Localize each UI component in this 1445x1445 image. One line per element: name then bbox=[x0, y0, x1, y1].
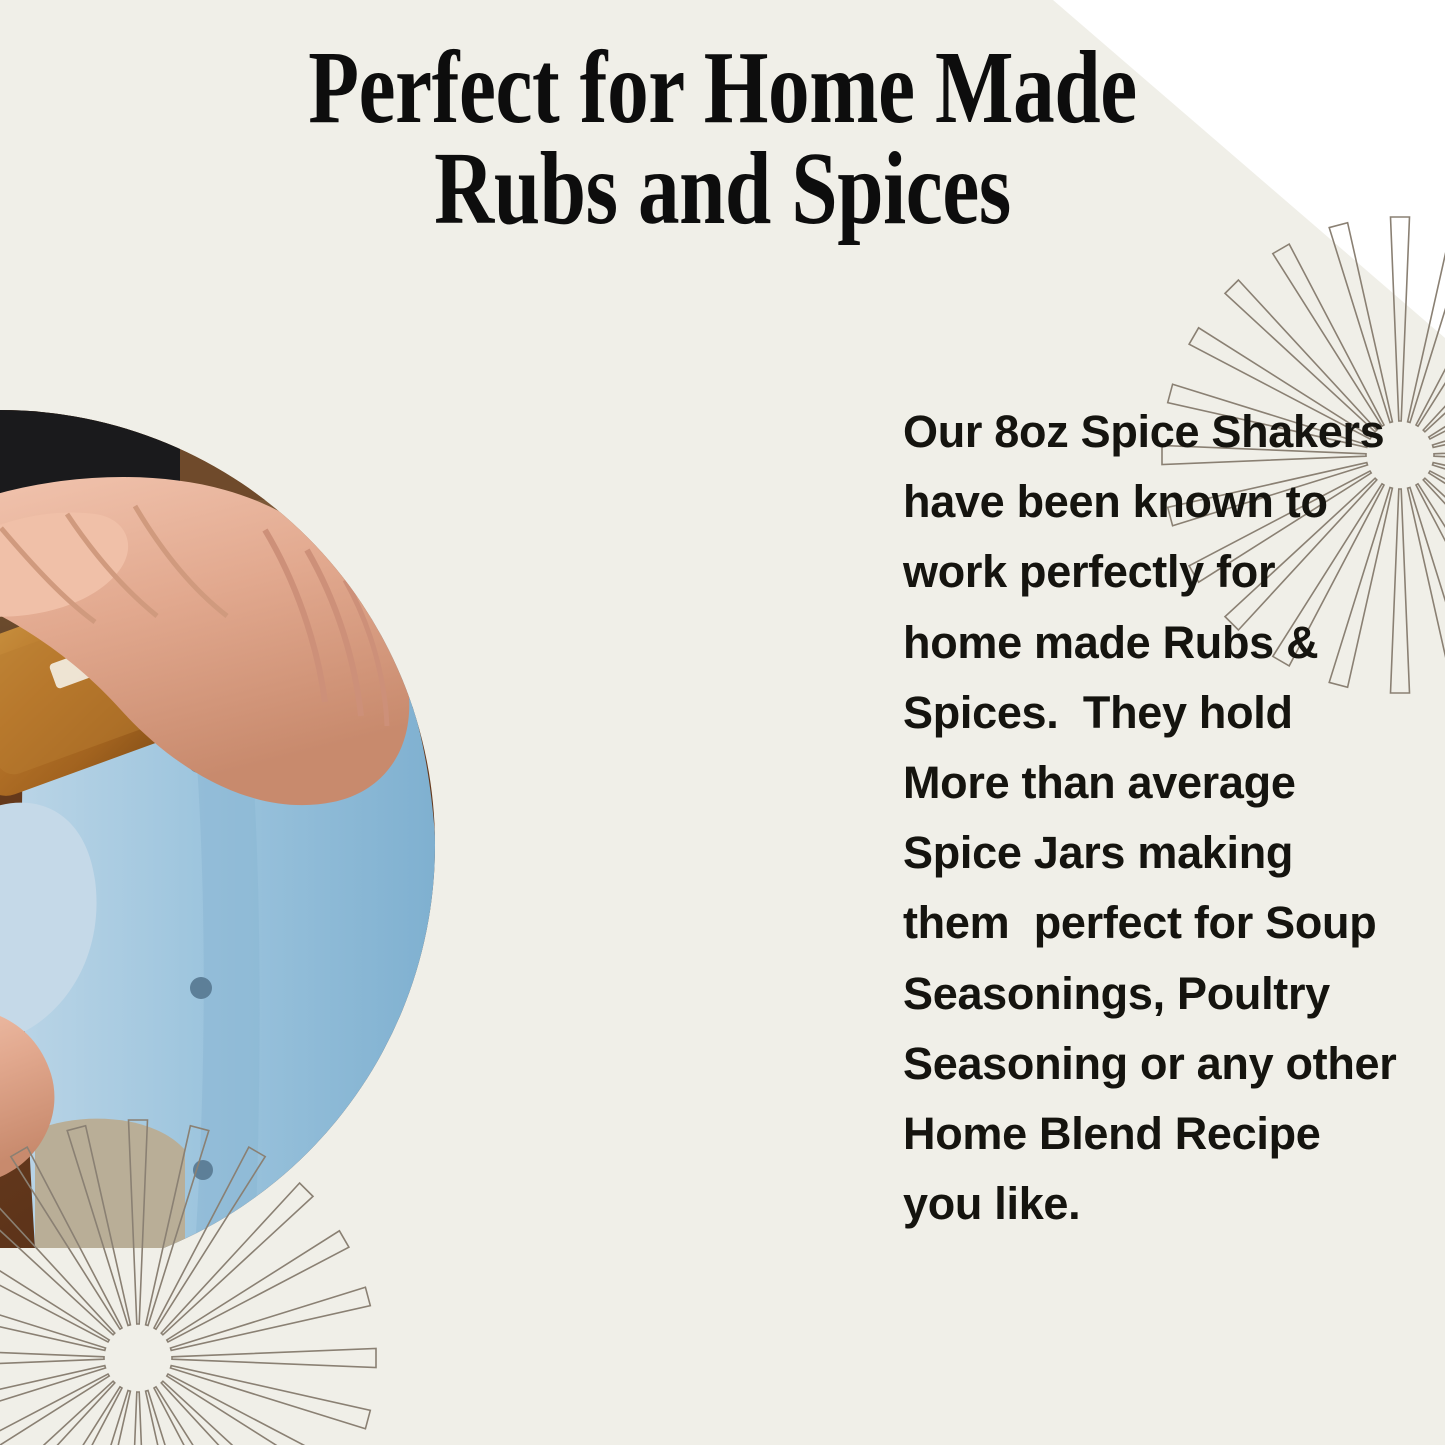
body-paragraph: Our 8oz Spice Shakers have been known to… bbox=[903, 397, 1403, 1239]
product-photo bbox=[0, 410, 435, 1280]
promo-poster: Perfect for Home Made Rubs and Spices bbox=[0, 0, 1445, 1445]
page-title: Perfect for Home Made Rubs and Spices bbox=[0, 38, 1445, 240]
page-title-line-2: Rubs and Spices bbox=[145, 139, 1301, 240]
product-photo-image bbox=[0, 410, 435, 1280]
page-title-line-1: Perfect for Home Made bbox=[145, 38, 1301, 139]
